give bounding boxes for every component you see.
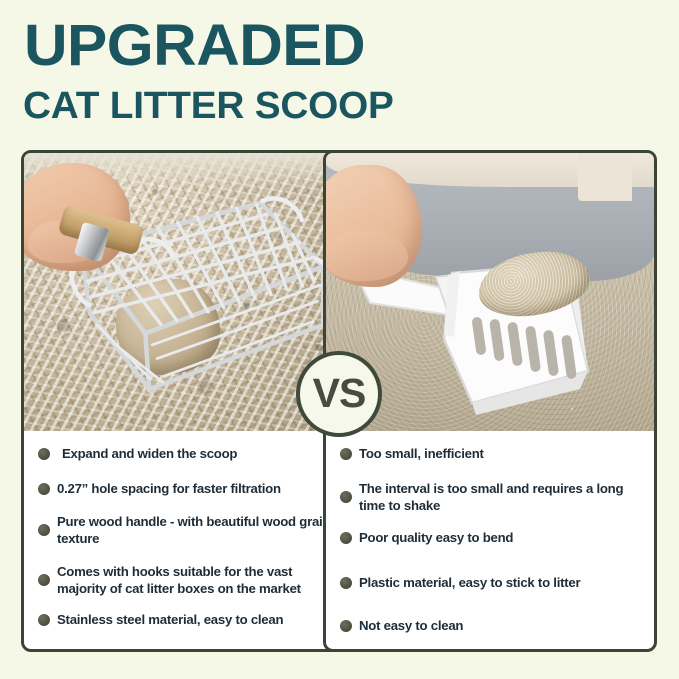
vs-label: VS	[313, 373, 366, 414]
bullet-dot-icon	[340, 491, 352, 503]
list-item: Poor quality easy to bend	[340, 529, 640, 546]
hand-icon	[326, 165, 422, 287]
list-item: The interval is too small and requires a…	[340, 480, 640, 514]
bullet-dot-icon	[340, 620, 352, 632]
page-subtitle: CAT LITTER SCOOP	[23, 84, 394, 128]
list-item-label: The interval is too small and requires a…	[359, 480, 640, 514]
list-item: Stainless steel material, easy to clean	[38, 611, 338, 628]
right-drawback-list: Too small, inefficient The interval is t…	[326, 431, 654, 641]
list-item-label: Too small, inefficient	[359, 445, 484, 462]
list-item-label: Stainless steel material, easy to clean	[57, 611, 283, 628]
left-feature-list: Expand and widen the scoop 0.27” hole sp…	[24, 431, 352, 641]
bullet-dot-icon	[38, 483, 50, 495]
header: UPGRADED CAT LITTER SCOOP	[0, 0, 679, 140]
litter-box-notch	[578, 153, 632, 201]
list-item: Comes with hooks suitable for the vast m…	[38, 563, 338, 597]
product-comparison-infographic: UPGRADED CAT LITTER SCOOP	[0, 0, 679, 679]
list-item: Plastic material, easy to stick to litte…	[340, 574, 640, 591]
bullet-dot-icon	[340, 448, 352, 460]
page-title: UPGRADED	[24, 14, 365, 78]
list-item-label: Not easy to clean	[359, 617, 463, 634]
bullet-dot-icon	[340, 577, 352, 589]
list-item: Too small, inefficient	[340, 445, 640, 462]
list-item: Expand and widen the scoop	[38, 445, 338, 462]
list-item-label: Expand and widen the scoop	[57, 445, 237, 462]
bullet-dot-icon	[38, 448, 50, 460]
list-item-label: Plastic material, easy to stick to litte…	[359, 574, 580, 591]
bullet-dot-icon	[340, 532, 352, 544]
list-item: Pure wood handle - with beautiful wood g…	[38, 513, 338, 547]
bullet-dot-icon	[38, 614, 50, 626]
bullet-dot-icon	[38, 574, 50, 586]
list-item-label: Comes with hooks suitable for the vast m…	[57, 563, 338, 597]
list-item-label: Poor quality easy to bend	[359, 529, 513, 546]
vs-badge: VS	[296, 351, 382, 437]
list-item-label: Pure wood handle - with beautiful wood g…	[57, 513, 338, 547]
list-item: 0.27” hole spacing for faster filtration	[38, 480, 338, 497]
list-item: Not easy to clean	[340, 617, 640, 634]
list-item-label: 0.27” hole spacing for faster filtration	[57, 480, 281, 497]
bullet-dot-icon	[38, 524, 50, 536]
